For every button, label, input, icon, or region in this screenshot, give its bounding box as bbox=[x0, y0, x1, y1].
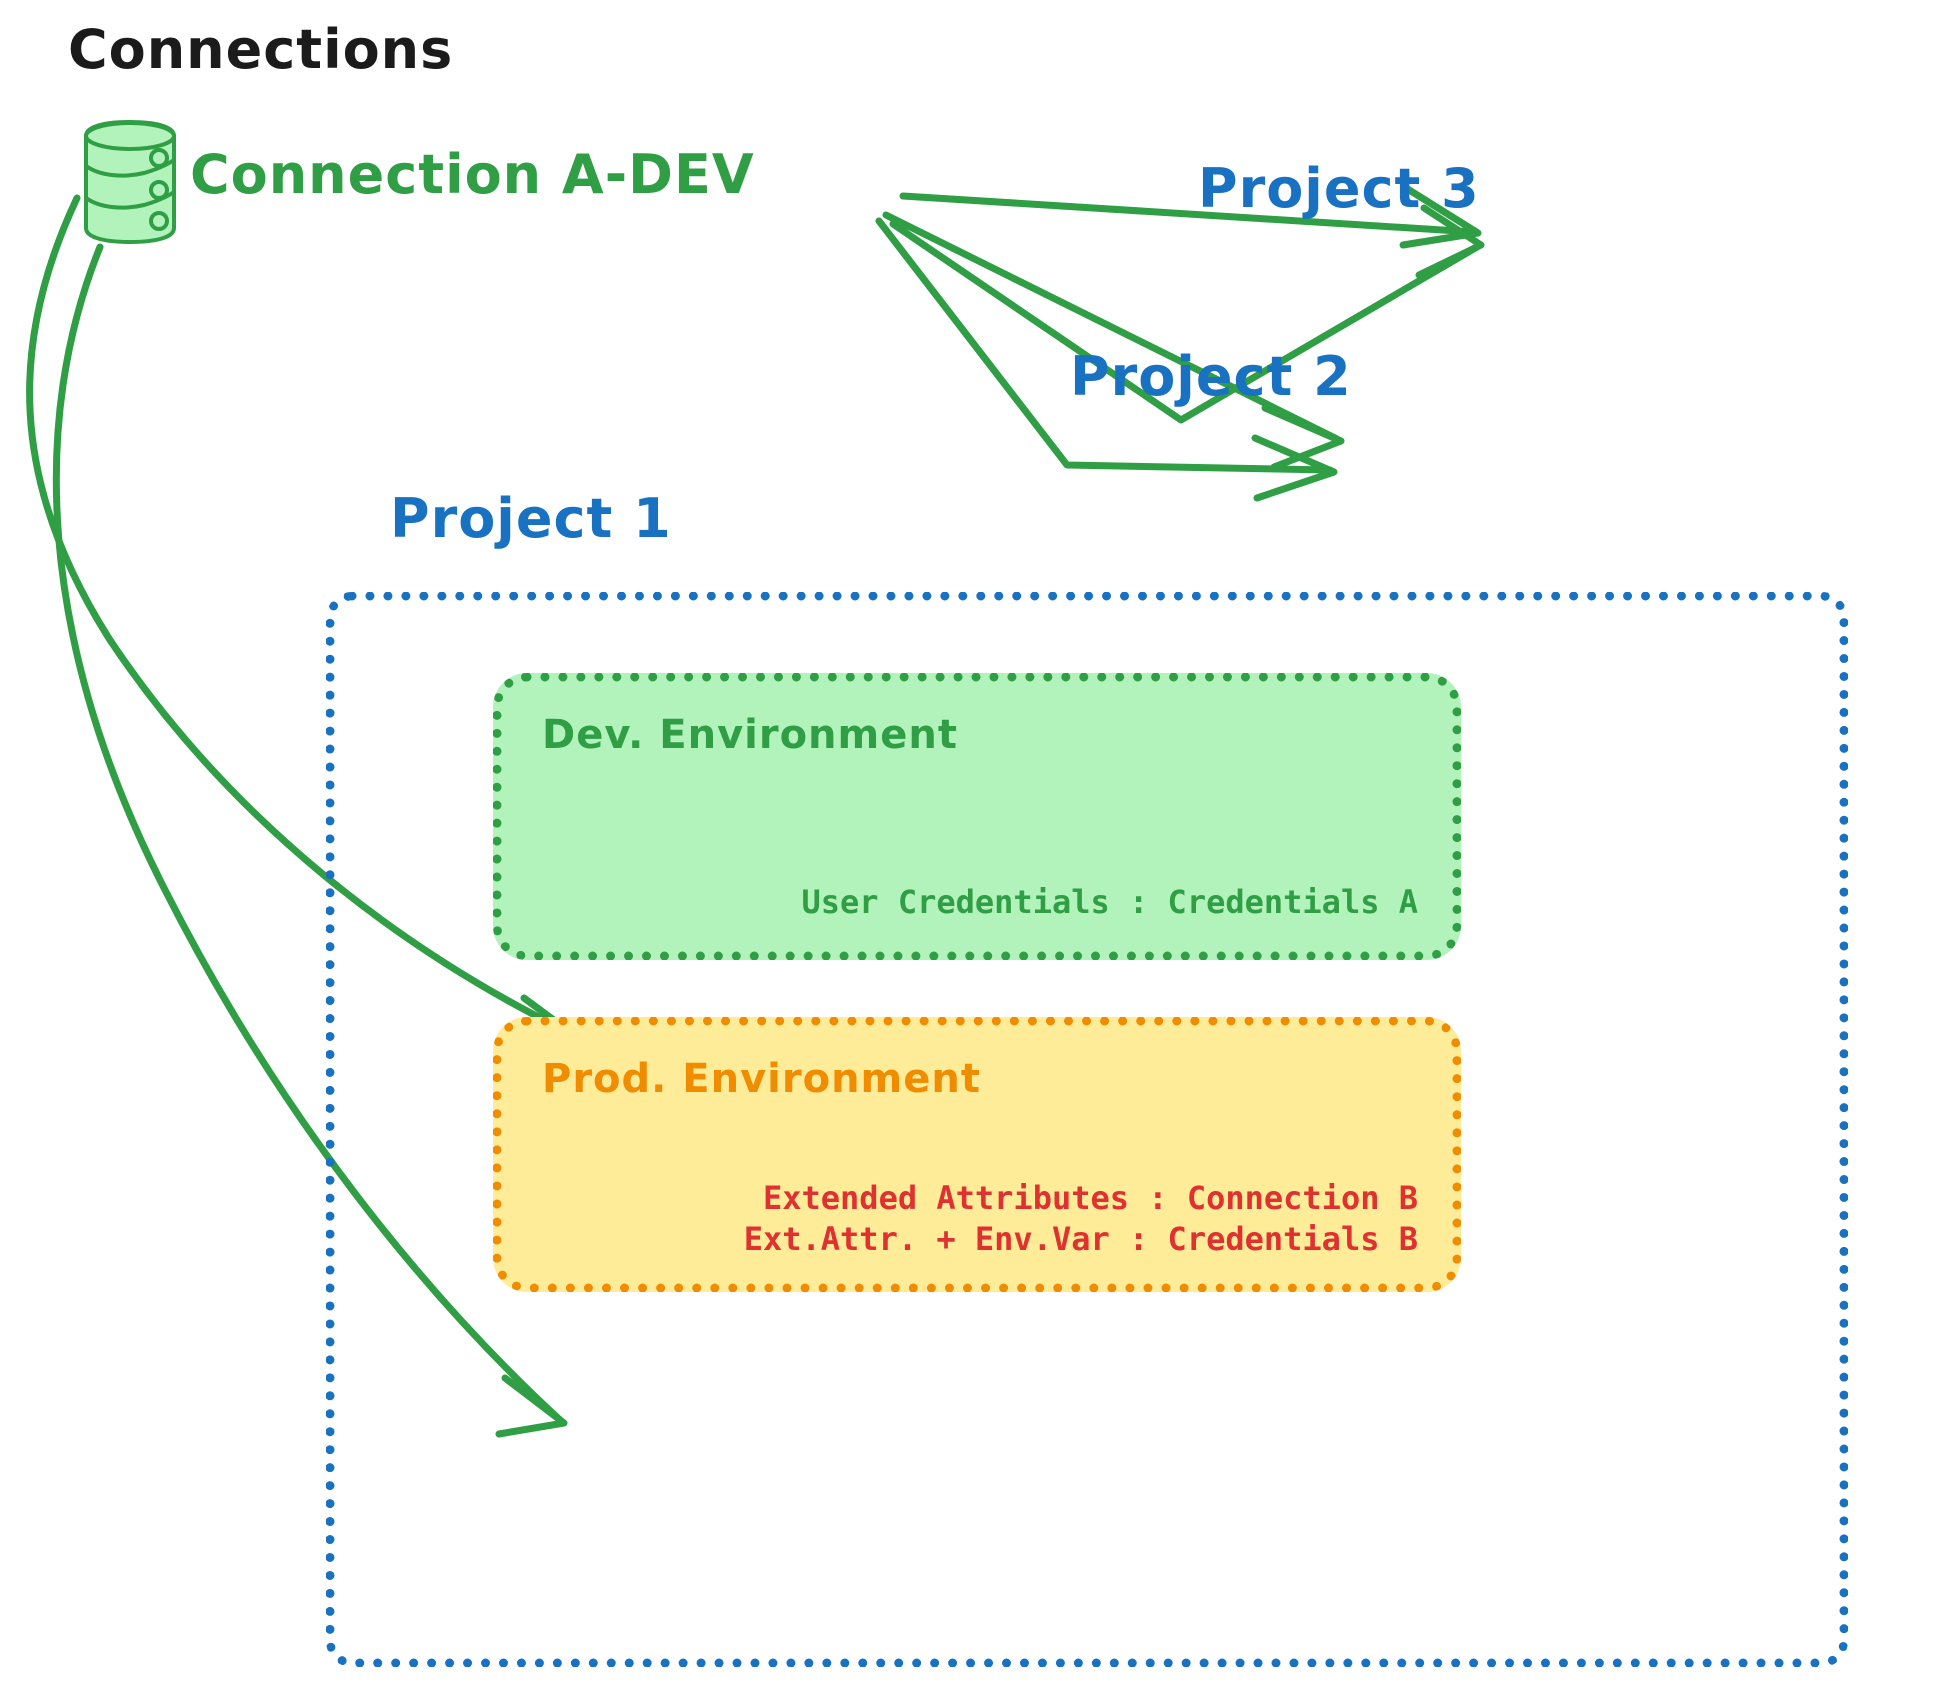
connection-label[interactable]: Connection A-DEV bbox=[190, 143, 755, 206]
dev-environment-title: Dev. Environment bbox=[542, 712, 958, 758]
arrow-conn-to-project2-a-head bbox=[1265, 408, 1341, 467]
prod-environment-attributes: Extended Attributes : Connection B Ext.A… bbox=[744, 1178, 1418, 1261]
diagram-canvas: Connections Connection A-DEV Project 3 P… bbox=[0, 0, 1938, 1691]
project-3-label[interactable]: Project 3 bbox=[1198, 157, 1480, 220]
project-1-label[interactable]: Project 1 bbox=[390, 487, 672, 550]
prod-env-var-line: Ext.Attr. + Env.Var : Credentials B bbox=[744, 1219, 1418, 1261]
dev-environment-attributes: User Credentials : Credentials A bbox=[802, 882, 1419, 923]
dev-credentials-line: User Credentials : Credentials A bbox=[802, 882, 1419, 923]
database-cylinder-icon bbox=[78, 118, 184, 246]
prod-extended-attributes-line: Extended Attributes : Connection B bbox=[744, 1178, 1418, 1220]
project-2-label[interactable]: Project 2 bbox=[1070, 345, 1352, 408]
page-title: Connections bbox=[68, 18, 453, 81]
prod-environment-title: Prod. Environment bbox=[542, 1056, 981, 1102]
dev-environment-box[interactable]: Dev. Environment User Credentials : Cred… bbox=[493, 673, 1461, 960]
arrow-conn-to-project2-b-head bbox=[1255, 438, 1334, 498]
prod-environment-box[interactable]: Prod. Environment Extended Attributes : … bbox=[493, 1017, 1461, 1292]
